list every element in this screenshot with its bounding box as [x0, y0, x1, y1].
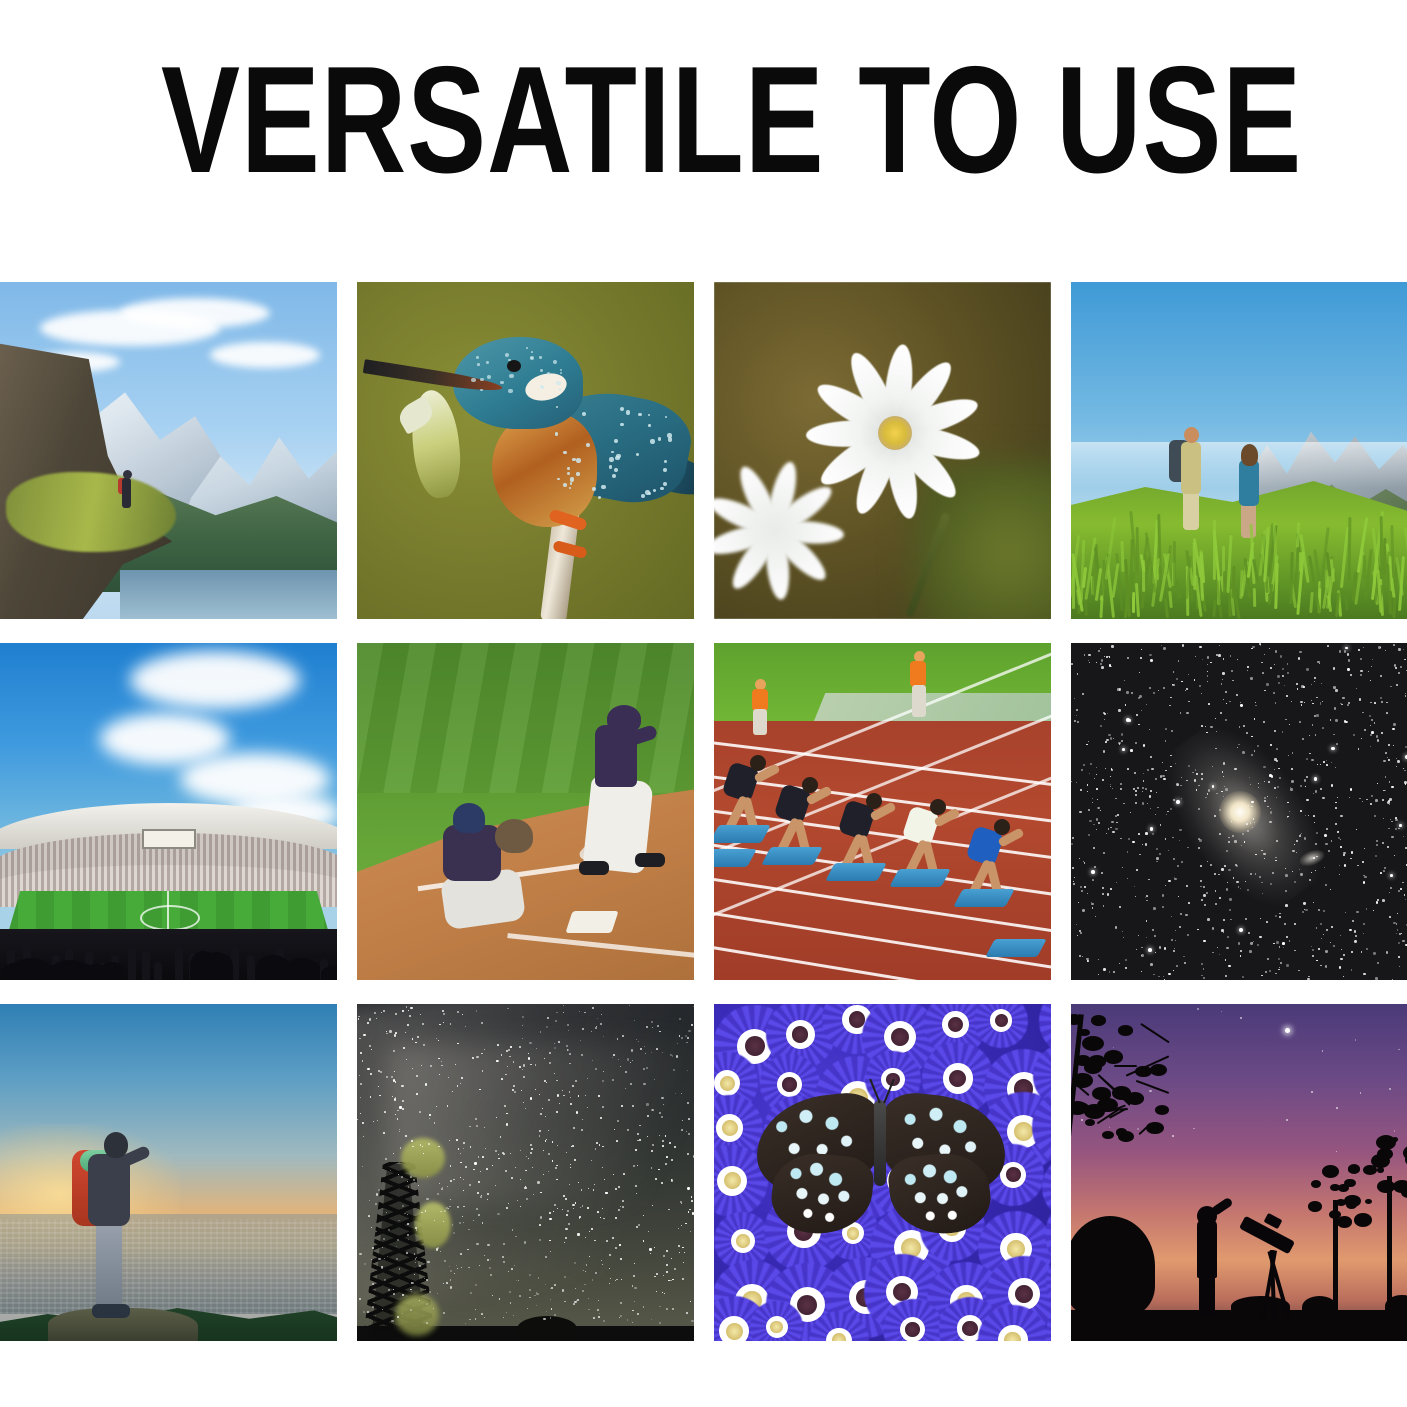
gallery-tile-track-sprint[interactable]: Five sprinters exploding out of blue sta… — [714, 643, 1051, 980]
product-feature-page: VERSATILE TO USE Hiker standing on a mos… — [0, 0, 1407, 1407]
gallery-tile-baseball[interactable]: Baseball batter in purple jersey swingin… — [357, 643, 694, 980]
gallery-tile-andromeda-galaxy[interactable]: Andromeda galaxy with bright core and co… — [1071, 643, 1407, 980]
page-title: VERSATILE TO USE — [161, 44, 1302, 196]
gallery-tile-alpine-hikers[interactable]: Two backpackers hiking through a green a… — [1071, 282, 1407, 619]
gallery-tile-milkyway-tower[interactable]: Milky Way arching over the silhouette of… — [357, 1004, 694, 1341]
gallery-tile-butterfly-flowers[interactable]: Blue tiger butterfly resting on vivid bl… — [714, 1004, 1051, 1341]
gallery-tile-sunrise-binoculars[interactable]: Hiker with red backpack looking through … — [0, 1004, 337, 1341]
gallery-tile-edelweiss[interactable]: Close-up macro of a white edelweiss flow… — [714, 282, 1051, 619]
gallery-tile-stadium[interactable]: Packed soccer stadium under blue cloudy … — [0, 643, 337, 980]
gallery-tile-kingfisher[interactable]: Common kingfisher perched on a branch ho… — [357, 282, 694, 619]
page-title-bar: VERSATILE TO USE — [0, 44, 1407, 196]
gallery-tile-hiking-cliff[interactable]: Hiker standing on a mossy cliff edge ove… — [0, 282, 337, 619]
image-grid: Hiker standing on a mossy cliff edge ove… — [0, 282, 1407, 1341]
gallery-tile-stargazer-telescope[interactable]: Silhouette of a person with binoculars b… — [1071, 1004, 1407, 1341]
